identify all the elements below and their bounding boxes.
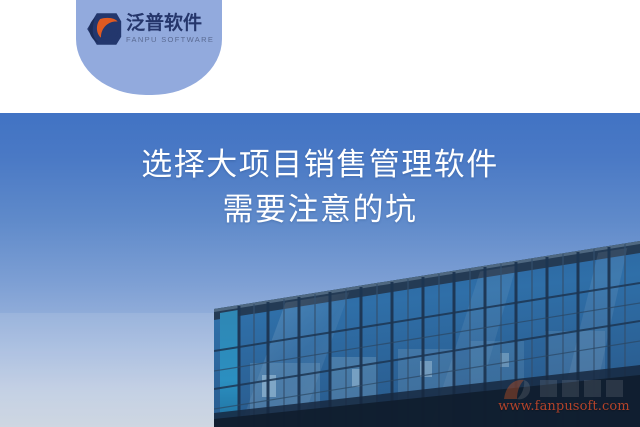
headline-line-2: 需要注意的坑 <box>0 188 640 233</box>
brand-lockup[interactable]: 泛普软件 FANPU SOFTWARE <box>86 8 216 50</box>
fanpu-watermark-logo-icon <box>498 375 626 401</box>
banner-page: 泛普软件 FANPU SOFTWARE <box>0 0 640 427</box>
hero-headline: 选择大项目销售管理软件 需要注意的坑 <box>0 143 640 233</box>
watermark: www.fanpusoft.com <box>496 375 632 421</box>
fanpu-hexagon-swoosh-logo-icon <box>86 12 122 46</box>
headline-line-1: 选择大项目销售管理软件 <box>0 143 640 188</box>
header-bar: 泛普软件 FANPU SOFTWARE <box>0 0 640 113</box>
brand-name-cn: 泛普软件 <box>126 14 214 33</box>
watermark-url: www.fanpusoft.com <box>496 399 632 414</box>
brand-name-en: FANPU SOFTWARE <box>126 36 214 44</box>
hero-section: 选择大项目销售管理软件 需要注意的坑 www.fanpusoft.com <box>0 113 640 427</box>
brand-wordmark: 泛普软件 FANPU SOFTWARE <box>126 14 214 44</box>
